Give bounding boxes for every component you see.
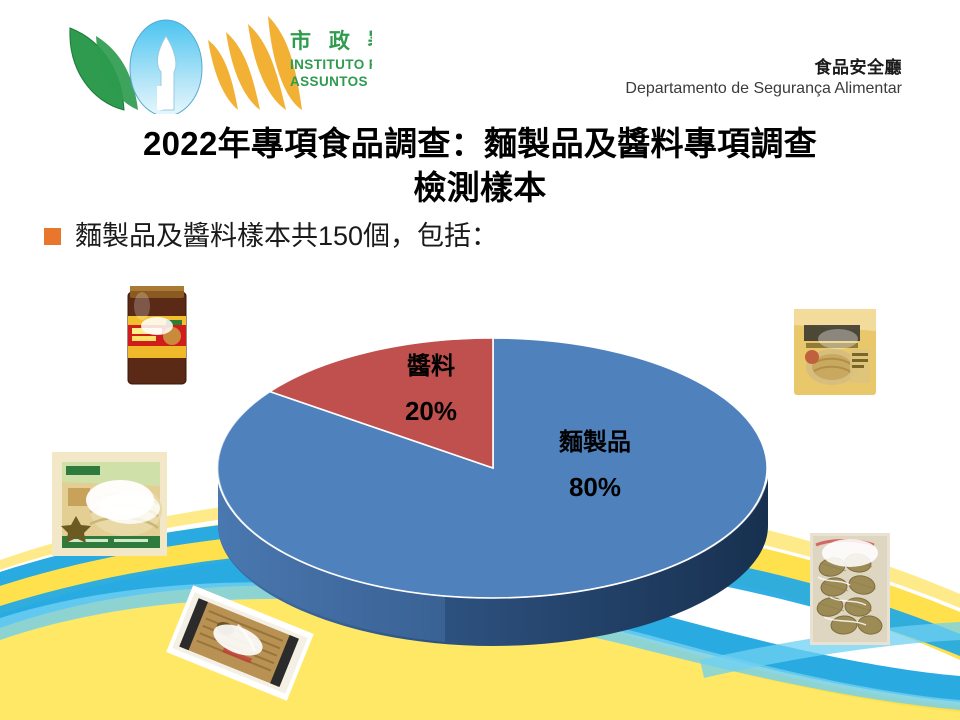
- pie-chart-graphic: [195, 320, 815, 650]
- pie-label-noodle: 麵製品 80%: [520, 428, 670, 504]
- iam-logo-mark: 市 政 署 INSTITUTO PARA OS ASSUNTOS MUNICIP…: [62, 6, 372, 114]
- pie-label-noodle-name: 麵製品: [520, 428, 670, 458]
- fresh-noodle-pack-image: [52, 452, 167, 556]
- bullet-item-label: 麵製品及醬料樣本共150個，包括：: [75, 220, 498, 252]
- bullet-item: 麵製品及醬料樣本共150個，包括：: [44, 220, 498, 252]
- logo-zh-text: 市 政 署: [290, 29, 372, 53]
- slide: 市 政 署 INSTITUTO PARA OS ASSUNTOS MUNICIP…: [0, 0, 960, 720]
- page-title: 2022年專項食品調查：麵製品及醬料專項調查 檢測樣本: [40, 122, 920, 209]
- product-photo-fresh-noodle-pack: [52, 452, 167, 556]
- product-photo-egg-noodle-pack: [786, 303, 884, 401]
- square-bullet-icon: [44, 228, 61, 245]
- pie-label-sauce-value: 20%: [376, 395, 486, 428]
- pie-label-noodle-value: 80%: [520, 471, 670, 504]
- dried-noodle-bundles-image: [810, 533, 890, 645]
- department-name-pt: Departamento de Segurança Alimentar: [625, 80, 902, 99]
- pie-label-sauce: 醬料 20%: [376, 352, 486, 428]
- pie-chart: [195, 320, 815, 650]
- page-title-line1: 2022年專項食品調查：麵製品及醬料專項調查: [40, 122, 920, 166]
- product-photo-chili-sauce-jar: [112, 276, 202, 388]
- pie-label-sauce-name: 醬料: [376, 352, 486, 382]
- logo-pt-line2: ASSUNTOS MUNICIPAIS: [290, 74, 372, 89]
- egg-noodle-pack-image: [786, 303, 884, 401]
- product-photo-dried-noodle-bundles: [810, 533, 890, 645]
- department-heading: 食品安全廳 Departamento de Segurança Alimenta…: [625, 58, 902, 99]
- chili-sauce-jar-image: [112, 276, 202, 388]
- page-title-line2: 檢測樣本: [40, 166, 920, 210]
- department-name-zh: 食品安全廳: [625, 58, 902, 78]
- iam-logo: 市 政 署 INSTITUTO PARA OS ASSUNTOS MUNICIP…: [62, 6, 372, 114]
- logo-pt-line1: INSTITUTO PARA OS: [290, 57, 372, 72]
